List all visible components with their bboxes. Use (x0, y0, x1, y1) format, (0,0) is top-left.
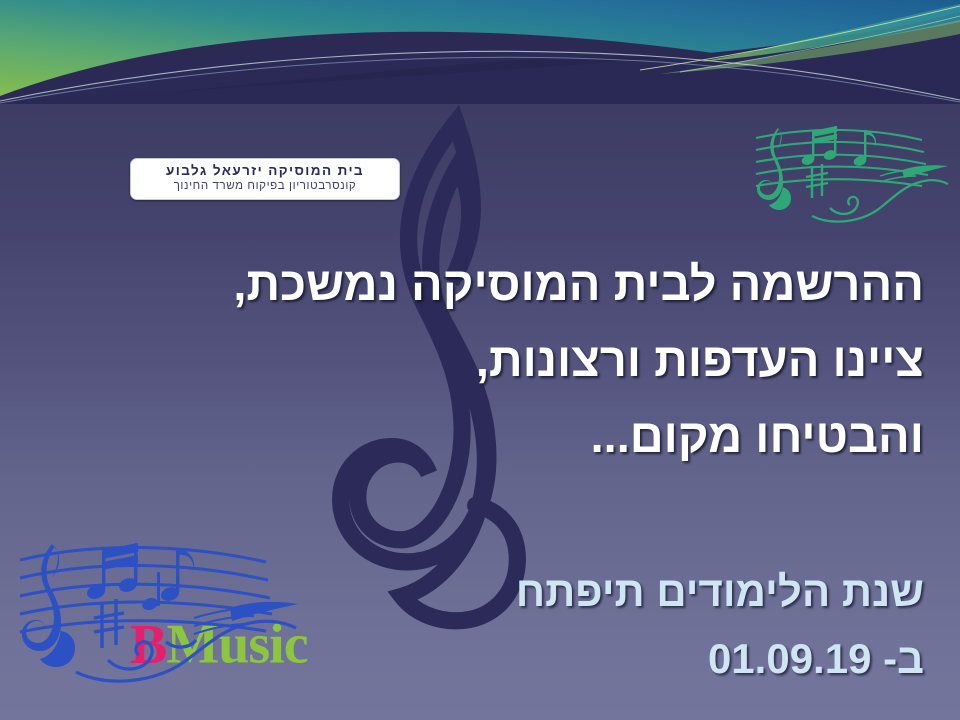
main-message-line-1: ההרשמה לבית המוסיקה נמשכת, (36, 246, 924, 322)
decorative-wave-banner (0, 0, 960, 104)
main-message-line-2: ציינו העדפות ורצונות, (36, 322, 924, 398)
school-year-notice-line-2: ב- 01.09.19 (36, 625, 924, 692)
presentation-slide: BMusic בית המוסיקה יזרעאל גלבוע קונסרבטו… (0, 0, 960, 720)
main-message-line-3: והבטיחו מקום... (36, 398, 924, 474)
music-notes-green-icon (752, 104, 952, 232)
bmusic-logo: BMusic בית המוסיקה יזרעאל גלבוע קונסרבטו… (130, 98, 400, 200)
main-message: ההרשמה לבית המוסיקה נמשכת, ציינו העדפות … (36, 246, 924, 474)
logo-wordmark: BMusic (130, 98, 400, 156)
school-year-notice-line-1: שנת הלימודים תיפתח (36, 558, 924, 625)
school-year-notice: שנת הלימודים תיפתח ב- 01.09.19 (36, 558, 924, 692)
